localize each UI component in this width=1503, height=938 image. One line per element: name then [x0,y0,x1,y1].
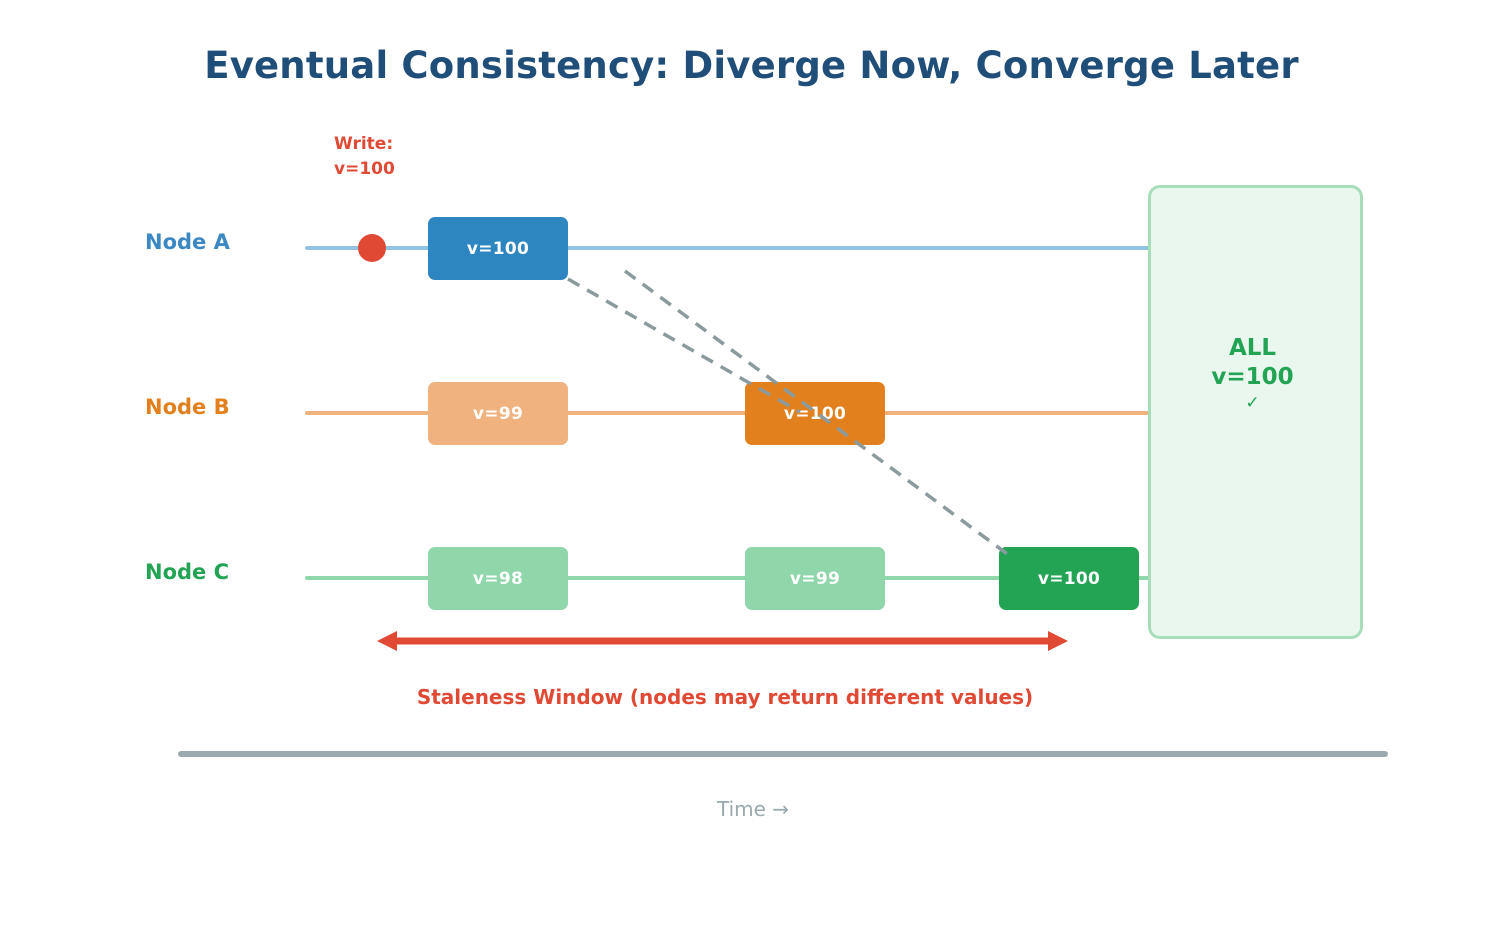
check-icon: ✓ [1148,392,1357,414]
write-annotation: Write: v=100 [334,132,395,181]
diagram-canvas: Eventual Consistency: Diverge Now, Conve… [0,0,1503,938]
write-marker-dot [358,234,386,262]
page-title: Eventual Consistency: Diverge Now, Conve… [0,44,1503,87]
convergence-label: ALL v=100 ✓ [1148,334,1357,414]
event-box-node-b-0: v=99 [428,382,568,445]
lane-label-node-b: Node B [145,395,230,419]
event-box-node-b-1: v=100 [745,382,885,445]
event-box-node-a-0: v=100 [428,217,568,280]
lane-label-node-c: Node C [145,560,229,584]
time-axis-caption: Time → [178,797,1328,821]
event-box-node-c-1: v=99 [745,547,885,610]
convergence-line2: v=100 [1148,363,1357,392]
lane-label-node-a: Node A [145,230,230,254]
convergence-line1: ALL [1148,334,1357,363]
staleness-window-caption: Staleness Window (nodes may return diffe… [380,685,1070,709]
write-annotation-line1: Write: [334,132,395,157]
event-box-node-c-2: v=100 [999,547,1139,610]
write-annotation-line2: v=100 [334,157,395,182]
staleness-window-arrow [377,631,1068,651]
event-box-node-c-0: v=98 [428,547,568,610]
time-axis-rule [178,751,1388,757]
